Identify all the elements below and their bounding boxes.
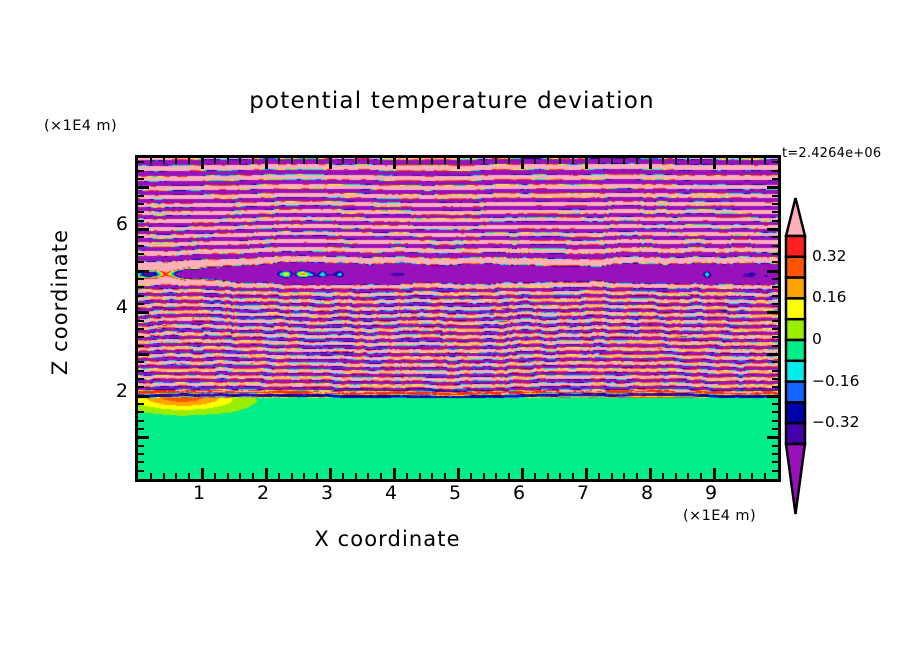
tick-mark xyxy=(772,278,778,280)
tick-mark xyxy=(483,473,485,479)
tick-mark xyxy=(559,158,561,164)
tick-mark xyxy=(483,158,485,164)
tick-mark xyxy=(457,468,460,479)
tick-mark xyxy=(767,353,778,356)
colorbar-ticklabel: 0 xyxy=(812,330,822,348)
tick-mark xyxy=(636,158,638,164)
tick-mark xyxy=(278,158,280,164)
y-ticklabel: 6 xyxy=(88,213,128,235)
tick-mark xyxy=(138,236,144,238)
tick-mark xyxy=(772,470,778,472)
tick-mark xyxy=(457,158,460,169)
tick-mark xyxy=(239,158,241,164)
tick-mark xyxy=(316,158,318,164)
tick-mark xyxy=(521,468,524,479)
tick-mark xyxy=(726,473,728,479)
tick-mark xyxy=(772,361,778,363)
tick-mark xyxy=(772,303,778,305)
tick-mark xyxy=(138,161,144,163)
tick-mark xyxy=(772,161,778,163)
time-annotation: t=2.4264e+06 xyxy=(782,146,881,161)
tick-mark xyxy=(713,158,716,169)
tick-mark xyxy=(138,470,144,472)
tick-mark xyxy=(611,158,613,164)
tick-mark xyxy=(138,303,144,305)
tick-mark xyxy=(772,178,778,180)
tick-mark xyxy=(431,158,433,164)
y-axis-unit-label: (×1E4 m) xyxy=(44,118,117,134)
tick-mark xyxy=(572,473,574,479)
tick-mark xyxy=(329,468,332,479)
tick-mark xyxy=(138,453,144,455)
tick-mark xyxy=(380,473,382,479)
tick-mark xyxy=(772,286,778,288)
tick-mark xyxy=(138,411,144,413)
tick-mark xyxy=(772,170,778,172)
tick-mark xyxy=(150,158,152,164)
tick-mark xyxy=(355,473,357,479)
heatmap-field xyxy=(138,158,778,479)
x-ticklabel: 3 xyxy=(307,482,347,504)
tick-mark xyxy=(508,473,510,479)
tick-mark xyxy=(713,468,716,479)
tick-mark xyxy=(772,411,778,413)
tick-mark xyxy=(138,270,149,273)
tick-mark xyxy=(470,158,472,164)
tick-mark xyxy=(138,403,144,405)
tick-mark xyxy=(367,158,369,164)
tick-mark xyxy=(291,158,293,164)
colorbar-band xyxy=(786,319,805,340)
colorbar-band xyxy=(786,382,805,403)
tick-mark xyxy=(342,473,344,479)
y-axis-title: Z coordinate xyxy=(48,207,72,397)
tick-mark xyxy=(252,473,254,479)
tick-mark xyxy=(163,473,165,479)
tick-mark xyxy=(138,203,144,205)
tick-mark xyxy=(214,473,216,479)
tick-mark xyxy=(138,361,144,363)
tick-mark xyxy=(201,468,204,479)
tick-mark xyxy=(342,158,344,164)
y-ticklabel: 2 xyxy=(88,380,128,402)
tick-mark xyxy=(419,158,421,164)
tick-mark xyxy=(138,228,149,231)
tick-mark xyxy=(751,158,753,164)
tick-mark xyxy=(772,261,778,263)
tick-mark xyxy=(138,253,144,255)
plot-area xyxy=(135,155,781,482)
tick-mark xyxy=(772,345,778,347)
tick-mark xyxy=(598,473,600,479)
tick-mark xyxy=(772,236,778,238)
tick-mark xyxy=(138,295,144,297)
tick-mark xyxy=(649,158,652,169)
tick-mark xyxy=(772,386,778,388)
tick-mark xyxy=(138,245,144,247)
tick-mark xyxy=(406,158,408,164)
tick-mark xyxy=(767,186,778,189)
tick-mark xyxy=(772,195,778,197)
tick-mark xyxy=(188,473,190,479)
tick-mark xyxy=(150,473,152,479)
tick-mark xyxy=(585,468,588,479)
tick-mark xyxy=(355,158,357,164)
tick-mark xyxy=(700,473,702,479)
tick-mark xyxy=(623,158,625,164)
tick-mark xyxy=(406,473,408,479)
colorbar-ticklabel: 0.32 xyxy=(812,247,847,265)
tick-mark xyxy=(764,158,766,164)
tick-mark xyxy=(547,473,549,479)
tick-mark xyxy=(138,178,144,180)
tick-mark xyxy=(316,473,318,479)
tick-mark xyxy=(772,453,778,455)
x-ticklabel: 9 xyxy=(691,482,731,504)
tick-mark xyxy=(367,473,369,479)
tick-mark xyxy=(138,170,144,172)
tick-mark xyxy=(767,228,778,231)
x-ticklabel: 2 xyxy=(243,482,283,504)
colorbar-band xyxy=(786,340,805,361)
tick-mark xyxy=(687,158,689,164)
tick-mark xyxy=(138,320,144,322)
tick-mark xyxy=(636,473,638,479)
tick-mark xyxy=(138,353,149,356)
tick-mark xyxy=(188,158,190,164)
tick-mark xyxy=(470,473,472,479)
tick-mark xyxy=(772,220,778,222)
tick-mark xyxy=(495,473,497,479)
tick-mark xyxy=(495,158,497,164)
tick-mark xyxy=(649,468,652,479)
tick-mark xyxy=(772,211,778,213)
tick-mark xyxy=(739,473,741,479)
tick-mark xyxy=(239,473,241,479)
tick-mark xyxy=(138,311,149,314)
colorbar-under-arrow xyxy=(786,444,805,514)
tick-mark xyxy=(175,473,177,479)
contour-canvas xyxy=(138,158,778,479)
tick-mark xyxy=(265,158,268,169)
tick-mark xyxy=(585,158,588,169)
tick-mark xyxy=(138,436,149,439)
tick-mark xyxy=(772,320,778,322)
tick-mark xyxy=(623,473,625,479)
tick-mark xyxy=(772,328,778,330)
tick-mark xyxy=(767,270,778,273)
tick-mark xyxy=(772,245,778,247)
colorbar-band xyxy=(786,402,805,423)
tick-mark xyxy=(265,468,268,479)
tick-mark xyxy=(201,158,204,169)
tick-mark xyxy=(138,220,144,222)
tick-mark xyxy=(662,473,664,479)
tick-mark xyxy=(767,436,778,439)
tick-mark xyxy=(534,473,536,479)
tick-mark xyxy=(767,395,778,398)
tick-mark xyxy=(214,158,216,164)
tick-mark xyxy=(772,370,778,372)
tick-mark xyxy=(772,461,778,463)
tick-mark xyxy=(393,468,396,479)
colorbar-band xyxy=(786,236,805,257)
tick-mark xyxy=(772,420,778,422)
tick-mark xyxy=(380,158,382,164)
tick-mark xyxy=(521,158,524,169)
tick-mark xyxy=(138,395,149,398)
tick-mark xyxy=(700,158,702,164)
colorbar-band xyxy=(786,298,805,319)
tick-mark xyxy=(138,420,144,422)
colorbar-band xyxy=(786,423,805,444)
tick-mark xyxy=(138,370,144,372)
tick-mark xyxy=(252,158,254,164)
tick-mark xyxy=(291,473,293,479)
tick-mark xyxy=(163,158,165,164)
tick-mark xyxy=(772,295,778,297)
tick-mark xyxy=(329,158,332,169)
tick-mark xyxy=(675,158,677,164)
tick-mark xyxy=(138,345,144,347)
tick-mark xyxy=(772,428,778,430)
tick-mark xyxy=(611,473,613,479)
colorbar xyxy=(780,196,814,516)
tick-mark xyxy=(444,473,446,479)
tick-mark xyxy=(772,336,778,338)
x-ticklabel: 6 xyxy=(499,482,539,504)
tick-mark xyxy=(662,158,664,164)
tick-mark xyxy=(227,158,229,164)
tick-mark xyxy=(303,473,305,479)
tick-mark xyxy=(534,158,536,164)
tick-mark xyxy=(739,158,741,164)
tick-mark xyxy=(138,378,144,380)
tick-mark xyxy=(138,286,144,288)
tick-mark xyxy=(138,461,144,463)
tick-mark xyxy=(138,386,144,388)
colorbar-band xyxy=(786,361,805,382)
tick-mark xyxy=(751,473,753,479)
x-axis-title: X coordinate xyxy=(0,527,775,551)
tick-mark xyxy=(772,445,778,447)
tick-mark xyxy=(138,328,144,330)
x-ticklabel: 5 xyxy=(435,482,475,504)
tick-mark xyxy=(138,278,144,280)
colorbar-band xyxy=(786,257,805,278)
tick-mark xyxy=(227,473,229,479)
tick-mark xyxy=(138,186,149,189)
tick-mark xyxy=(303,158,305,164)
tick-mark xyxy=(175,158,177,164)
x-ticklabel: 1 xyxy=(179,482,219,504)
tick-mark xyxy=(393,158,396,169)
tick-mark xyxy=(598,158,600,164)
tick-mark xyxy=(419,473,421,479)
tick-mark xyxy=(767,311,778,314)
tick-mark xyxy=(444,158,446,164)
tick-mark xyxy=(772,203,778,205)
colorbar-ticklabel: −0.32 xyxy=(812,413,860,431)
colorbar-ticklabel: 0.16 xyxy=(812,288,847,306)
tick-mark xyxy=(138,445,144,447)
chart-title: potential temperature deviation xyxy=(0,88,904,114)
tick-mark xyxy=(687,473,689,479)
tick-mark xyxy=(772,253,778,255)
tick-mark xyxy=(431,473,433,479)
tick-mark xyxy=(726,158,728,164)
tick-mark xyxy=(138,428,144,430)
tick-mark xyxy=(547,158,549,164)
tick-mark xyxy=(138,211,144,213)
colorbar-band xyxy=(786,278,805,299)
colorbar-over-arrow xyxy=(786,198,805,236)
tick-mark xyxy=(572,158,574,164)
x-ticklabel: 8 xyxy=(627,482,667,504)
tick-mark xyxy=(772,403,778,405)
x-axis-unit-label: (×1E4 m) xyxy=(683,508,756,524)
tick-mark xyxy=(508,158,510,164)
x-ticklabel: 7 xyxy=(563,482,603,504)
tick-mark xyxy=(764,473,766,479)
tick-mark xyxy=(772,378,778,380)
tick-mark xyxy=(138,195,144,197)
x-ticklabel: 4 xyxy=(371,482,411,504)
tick-mark xyxy=(675,473,677,479)
tick-mark xyxy=(278,473,280,479)
y-ticklabel: 4 xyxy=(88,296,128,318)
colorbar-svg xyxy=(780,196,814,516)
chart-title-text: potential temperature deviation xyxy=(249,88,655,114)
colorbar-ticklabel: −0.16 xyxy=(812,372,860,390)
tick-mark xyxy=(138,261,144,263)
tick-mark xyxy=(138,336,144,338)
tick-mark xyxy=(559,473,561,479)
